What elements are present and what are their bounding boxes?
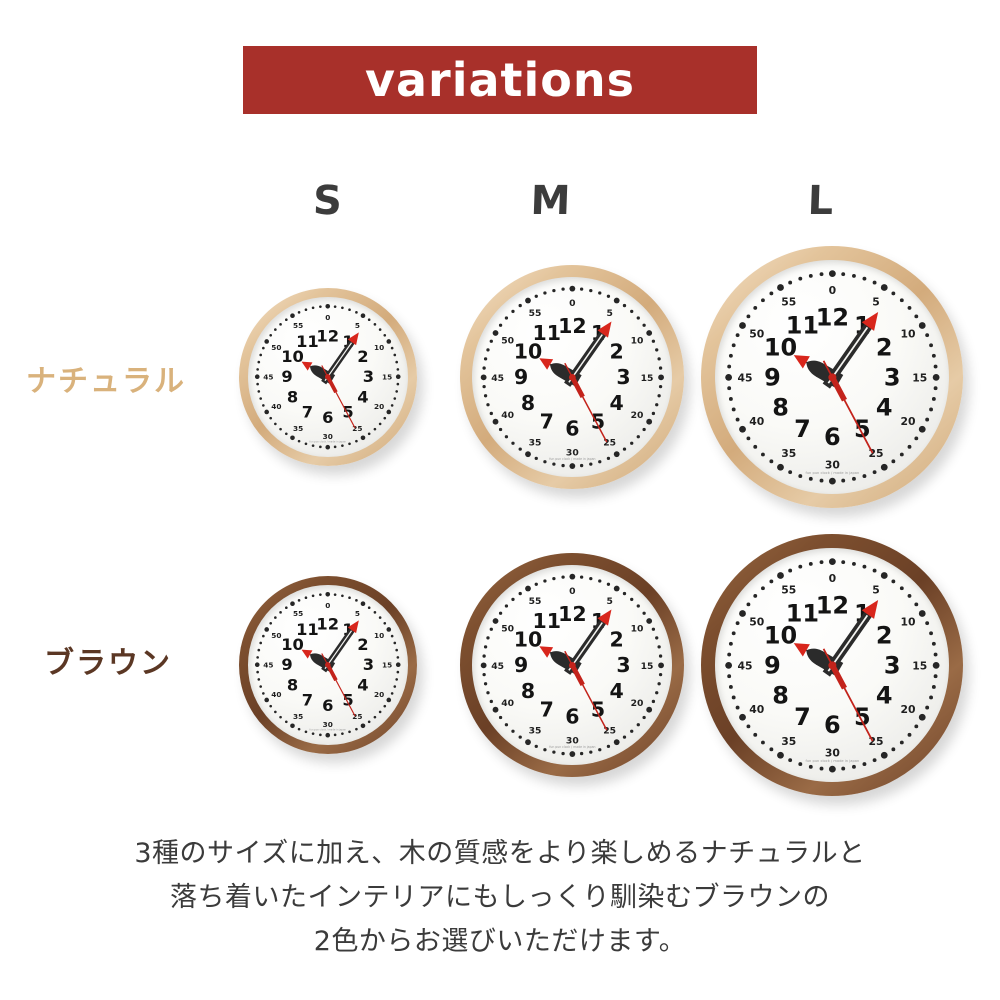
svg-text:0: 0 <box>828 284 836 297</box>
svg-text:50: 50 <box>749 327 764 340</box>
svg-text:9: 9 <box>282 367 293 386</box>
caption-paragraph: 3種のサイズに加え、木の質感をより楽しめるナチュラルと 落ち着いたインテリアにも… <box>0 832 1000 964</box>
svg-text:3: 3 <box>616 365 630 389</box>
svg-text:30: 30 <box>824 458 839 471</box>
svg-text:5: 5 <box>606 596 612 607</box>
clock-dial: 0510152025303540455055123456789101112fun… <box>715 260 950 495</box>
caption-line-2: 落ち着いたインテリアにもしっくり馴染むブラウンの <box>0 876 1000 920</box>
svg-text:fun pun clock / made in japa: fun pun clock / made in japan <box>805 759 859 763</box>
svg-text:35: 35 <box>293 712 303 721</box>
svg-text:55: 55 <box>528 308 541 319</box>
svg-text:5: 5 <box>590 409 604 433</box>
svg-text:40: 40 <box>501 698 514 709</box>
svg-text:15: 15 <box>382 661 392 670</box>
svg-text:30: 30 <box>323 720 333 729</box>
svg-text:15: 15 <box>382 373 392 382</box>
svg-text:5: 5 <box>355 321 360 330</box>
svg-text:3: 3 <box>884 651 901 679</box>
svg-text:7: 7 <box>794 703 811 731</box>
svg-text:11: 11 <box>785 311 818 339</box>
svg-text:11: 11 <box>296 620 319 639</box>
svg-text:10: 10 <box>630 623 643 634</box>
svg-text:8: 8 <box>521 390 535 414</box>
svg-text:3: 3 <box>363 367 374 386</box>
clock-natural-l: 0510152025303540455055123456789101112fun… <box>701 246 963 508</box>
svg-text:55: 55 <box>528 596 541 607</box>
svg-text:6: 6 <box>322 408 333 427</box>
svg-text:2: 2 <box>875 333 892 361</box>
svg-text:35: 35 <box>528 437 541 448</box>
svg-text:40: 40 <box>501 410 514 421</box>
svg-text:30: 30 <box>323 432 333 441</box>
svg-text:2: 2 <box>358 347 369 366</box>
clock-dial: 0510152025303540455055123456789101112fun… <box>472 277 673 478</box>
svg-text:20: 20 <box>900 703 915 716</box>
svg-text:8: 8 <box>287 676 298 695</box>
svg-text:0: 0 <box>569 298 575 309</box>
clock-face: 0510152025303540455055123456789101112fun… <box>715 260 950 495</box>
svg-text:4: 4 <box>609 390 623 414</box>
svg-text:4: 4 <box>609 678 623 702</box>
svg-text:45: 45 <box>491 660 504 671</box>
svg-text:45: 45 <box>737 371 752 384</box>
size-header-s: S <box>304 178 352 224</box>
svg-text:15: 15 <box>640 372 653 383</box>
svg-text:6: 6 <box>322 696 333 715</box>
svg-text:10: 10 <box>374 343 384 352</box>
svg-text:7: 7 <box>539 697 553 721</box>
svg-text:3: 3 <box>616 653 630 677</box>
svg-text:15: 15 <box>640 660 653 671</box>
svg-text:55: 55 <box>781 295 796 308</box>
clock-brown-s: 0510152025303540455055123456789101112fun… <box>239 576 417 754</box>
svg-text:11: 11 <box>532 609 560 633</box>
svg-text:0: 0 <box>325 313 330 322</box>
svg-text:2: 2 <box>609 339 623 363</box>
svg-text:7: 7 <box>539 409 553 433</box>
svg-text:12: 12 <box>815 591 848 619</box>
banner-title: variations <box>365 57 635 103</box>
size-header-m: M <box>527 178 575 224</box>
clock-face: 0510152025303540455055123456789101112fun… <box>248 297 407 456</box>
svg-text:45: 45 <box>264 661 274 670</box>
clock-dial: 0510152025303540455055123456789101112fun… <box>715 548 950 783</box>
svg-text:40: 40 <box>272 690 282 699</box>
caption-line-3: 2色からお選びいただけます。 <box>0 920 1000 964</box>
svg-text:2: 2 <box>875 621 892 649</box>
svg-text:5: 5 <box>343 403 354 422</box>
svg-text:12: 12 <box>815 303 848 331</box>
svg-text:50: 50 <box>272 343 282 352</box>
svg-text:40: 40 <box>749 703 764 716</box>
clock-brown-l: 0510152025303540455055123456789101112fun… <box>701 534 963 796</box>
svg-text:15: 15 <box>912 371 927 384</box>
clock-dial: 0510152025303540455055123456789101112fun… <box>248 297 407 456</box>
svg-text:8: 8 <box>772 393 789 421</box>
svg-text:fun pun clock / made in japa: fun pun clock / made in japan <box>310 440 347 444</box>
svg-text:55: 55 <box>781 583 796 596</box>
svg-text:0: 0 <box>325 601 330 610</box>
svg-text:2: 2 <box>609 627 623 651</box>
svg-text:9: 9 <box>514 653 528 677</box>
variations-banner: variations <box>243 46 757 114</box>
svg-text:4: 4 <box>875 681 892 709</box>
svg-text:5: 5 <box>854 703 871 731</box>
svg-text:5: 5 <box>606 308 612 319</box>
svg-text:8: 8 <box>287 388 298 407</box>
svg-text:6: 6 <box>824 423 841 451</box>
svg-text:5: 5 <box>355 609 360 618</box>
clock-brown-m: 0510152025303540455055123456789101112fun… <box>460 553 684 777</box>
svg-text:12: 12 <box>558 602 586 626</box>
svg-text:7: 7 <box>302 403 313 422</box>
svg-text:55: 55 <box>293 321 303 330</box>
svg-text:4: 4 <box>358 388 369 407</box>
svg-text:6: 6 <box>565 416 579 440</box>
svg-text:fun pun clock / made in japa: fun pun clock / made in japan <box>805 471 859 475</box>
svg-text:4: 4 <box>358 676 369 695</box>
clock-face: 0510152025303540455055123456789101112fun… <box>472 565 673 766</box>
svg-text:9: 9 <box>282 655 293 674</box>
svg-text:0: 0 <box>828 572 836 585</box>
clock-dial: 0510152025303540455055123456789101112fun… <box>472 565 673 766</box>
svg-text:10: 10 <box>630 335 643 346</box>
clock-face: 0510152025303540455055123456789101112fun… <box>715 548 950 783</box>
svg-text:9: 9 <box>514 365 528 389</box>
svg-text:20: 20 <box>900 415 915 428</box>
svg-text:7: 7 <box>302 691 313 710</box>
svg-text:50: 50 <box>749 615 764 628</box>
row-label-brown: ブラウン <box>44 638 172 682</box>
clock-face: 0510152025303540455055123456789101112fun… <box>472 277 673 478</box>
row-label-natural: ナチュラル <box>26 356 186 400</box>
size-header-l: L <box>797 178 845 224</box>
svg-text:20: 20 <box>630 410 643 421</box>
svg-text:5: 5 <box>854 415 871 443</box>
clock-dial: 0510152025303540455055123456789101112fun… <box>248 585 407 744</box>
svg-text:9: 9 <box>764 651 781 679</box>
svg-text:8: 8 <box>772 681 789 709</box>
svg-text:12: 12 <box>558 314 586 338</box>
svg-text:11: 11 <box>532 321 560 345</box>
svg-text:50: 50 <box>272 631 282 640</box>
svg-text:9: 9 <box>764 363 781 391</box>
svg-text:10: 10 <box>374 631 384 640</box>
caption-line-1: 3種のサイズに加え、木の質感をより楽しめるナチュラルと <box>0 832 1000 876</box>
svg-text:40: 40 <box>749 415 764 428</box>
svg-text:50: 50 <box>501 335 514 346</box>
svg-text:11: 11 <box>785 599 818 627</box>
svg-text:12: 12 <box>317 327 340 346</box>
svg-text:10: 10 <box>900 615 915 628</box>
svg-text:20: 20 <box>374 402 384 411</box>
svg-text:fun pun clock / made in japa: fun pun clock / made in japan <box>310 728 347 732</box>
svg-text:3: 3 <box>363 655 374 674</box>
svg-text:45: 45 <box>737 659 752 672</box>
clock-natural-m: 0510152025303540455055123456789101112fun… <box>460 265 684 489</box>
svg-text:6: 6 <box>824 711 841 739</box>
svg-text:20: 20 <box>630 698 643 709</box>
svg-text:15: 15 <box>912 659 927 672</box>
clock-natural-s: 0510152025303540455055123456789101112fun… <box>239 288 417 466</box>
svg-text:2: 2 <box>358 635 369 654</box>
svg-text:3: 3 <box>884 363 901 391</box>
svg-text:7: 7 <box>794 415 811 443</box>
svg-text:10: 10 <box>900 327 915 340</box>
svg-text:5: 5 <box>872 295 880 308</box>
svg-text:40: 40 <box>272 402 282 411</box>
svg-text:5: 5 <box>590 697 604 721</box>
svg-text:45: 45 <box>264 373 274 382</box>
svg-text:20: 20 <box>374 690 384 699</box>
svg-text:35: 35 <box>781 447 796 460</box>
svg-text:8: 8 <box>521 678 535 702</box>
svg-text:35: 35 <box>293 424 303 433</box>
svg-text:12: 12 <box>317 615 340 634</box>
svg-text:0: 0 <box>569 586 575 597</box>
svg-text:fun pun clock / made in japa: fun pun clock / made in japan <box>549 745 595 749</box>
svg-text:55: 55 <box>293 609 303 618</box>
svg-text:45: 45 <box>491 372 504 383</box>
svg-text:6: 6 <box>565 704 579 728</box>
svg-text:fun pun clock / made in japa: fun pun clock / made in japan <box>549 457 595 461</box>
svg-text:35: 35 <box>781 735 796 748</box>
svg-text:35: 35 <box>528 725 541 736</box>
svg-text:50: 50 <box>501 623 514 634</box>
svg-text:5: 5 <box>343 691 354 710</box>
clock-face: 0510152025303540455055123456789101112fun… <box>248 585 407 744</box>
svg-text:5: 5 <box>872 583 880 596</box>
svg-text:30: 30 <box>824 746 839 759</box>
svg-text:4: 4 <box>875 393 892 421</box>
svg-text:11: 11 <box>296 332 319 351</box>
